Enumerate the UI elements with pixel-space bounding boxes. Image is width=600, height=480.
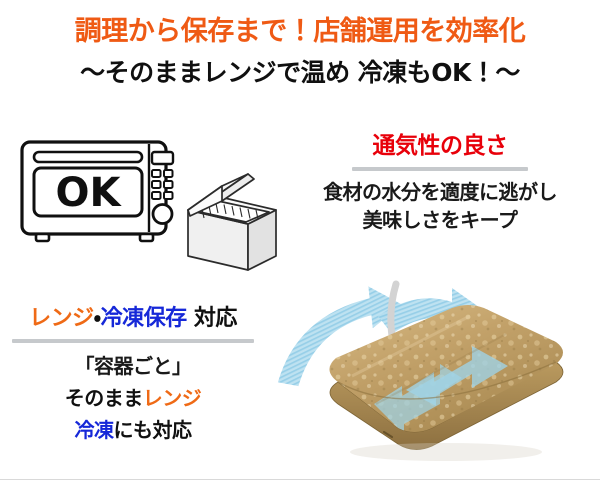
- ventilation-panel: 通気性の良さ 食材の水分を適度に逃がし 美味しさをキープ: [290, 132, 590, 235]
- headline-primary: 調理から保存まで！店舗運用を効率化: [0, 16, 600, 48]
- bagasse-food-container-photo: [256, 272, 600, 480]
- heading-part-reitou-hozon: 冷凍保存: [101, 306, 187, 331]
- chest-freezer-illustration: [182, 168, 282, 273]
- left-body-line-1: 「容器ごと」: [8, 350, 258, 382]
- microwave-freezer-panel: レンジ・冷凍保存 対応 「容器ごと」 そのままレンジ 冷凍にも対応: [8, 305, 258, 447]
- left-body-line-2-plain: そのまま: [65, 386, 143, 410]
- microwave-freezer-divider: [12, 339, 254, 343]
- ventilation-body-line-1: 食材の水分を適度に逃がし: [290, 178, 590, 206]
- microwave-ok-label: OK: [56, 170, 123, 216]
- left-body-line-3-accent: 冷凍: [75, 418, 114, 442]
- left-body-line-2-accent: レンジ: [143, 386, 202, 410]
- microwave-display: [152, 152, 173, 164]
- heading-part-renji: レンジ: [29, 306, 94, 331]
- infographic-page: 調理から保存まで！店舗運用を効率化 〜そのままレンジで温め 冷凍もOK！〜 OK: [0, 0, 600, 480]
- microwave-dial: [153, 205, 172, 224]
- left-body-line-3-plain: にも対応: [114, 418, 192, 442]
- ventilation-heading: 通気性の良さ: [290, 132, 590, 161]
- heading-part-separator: ・: [94, 306, 101, 331]
- heading-part-taiou: 対応: [187, 306, 237, 331]
- microwave-freezer-heading: レンジ・冷凍保存 対応: [8, 305, 258, 333]
- ventilation-body-line-2: 美味しさをキープ: [290, 206, 590, 234]
- microwave-oven-illustration: OK: [18, 138, 178, 248]
- headline-secondary: 〜そのままレンジで温め 冷凍もOK！〜: [0, 58, 600, 88]
- ventilation-divider: [352, 167, 528, 171]
- left-body-line-3: 冷凍にも対応: [8, 414, 258, 446]
- left-body-line-2: そのままレンジ: [8, 382, 258, 414]
